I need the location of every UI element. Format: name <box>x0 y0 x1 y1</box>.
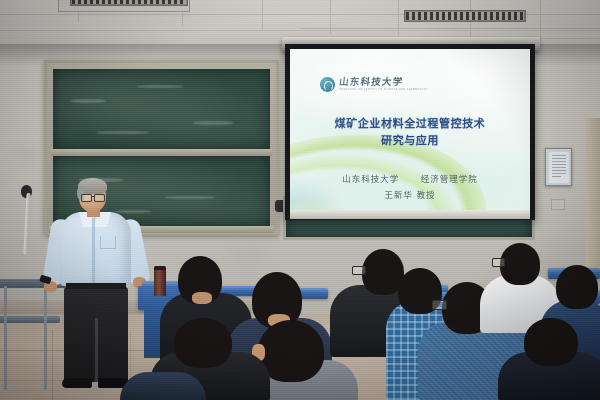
speaker-left-shoe <box>62 378 92 388</box>
speaker-glasses-right-lens <box>94 194 105 202</box>
speaker-shirt-placket <box>92 218 95 284</box>
ceiling-vent-right <box>404 10 526 22</box>
university-name-english: SHANDONG UNIVERSITY OF SCIENCE AND TECHN… <box>339 89 429 91</box>
side-table-leg-1 <box>44 286 47 390</box>
vacuum-flask <box>154 270 166 296</box>
audience-7-head <box>500 243 540 285</box>
slide-title: 煤矿企业材料全过程管控技术 研究与应用 <box>290 115 530 149</box>
university-logo: 山东科技大学 SHANDONG UNIVERSITY OF SCIENCE AN… <box>320 77 429 92</box>
blackboard <box>44 60 279 235</box>
blackboard-panel-upper <box>53 69 270 149</box>
wall-mark-1 <box>14 150 40 160</box>
university-logo-text: 山东科技大学 SHANDONG UNIVERSITY OF SCIENCE AN… <box>339 78 429 91</box>
slide-title-line-1: 煤矿企业材料全过程管控技术 <box>290 115 530 132</box>
door-frame-right <box>586 118 600 278</box>
side-table-shelf <box>0 316 60 323</box>
presentation-slide: 山东科技大学 SHANDONG UNIVERSITY OF SCIENCE AN… <box>290 49 530 210</box>
classroom-lecture-photo: 山东科技大学 SHANDONG UNIVERSITY OF SCIENCE AN… <box>0 0 600 400</box>
university-name-chinese: 山东科技大学 <box>338 78 429 88</box>
speaker-shirt-pocket <box>100 236 116 249</box>
audience-3-glasses <box>352 266 366 275</box>
speaker-glasses-bridge <box>91 196 95 197</box>
side-table-leg-2 <box>4 286 7 390</box>
projection-screen: 山东科技大学 SHANDONG UNIVERSITY OF SCIENCE AN… <box>285 44 535 220</box>
audience-1-neck <box>192 292 212 304</box>
speaker-belt <box>66 283 126 289</box>
ceiling-vent-left <box>70 0 188 6</box>
notice-text-block <box>549 152 569 183</box>
subtitle-institution: 山东科技大学 <box>342 175 399 185</box>
floor-seam-3 <box>52 330 53 400</box>
audience-6-glasses <box>432 300 447 310</box>
audience-8-head <box>556 265 598 309</box>
framed-notice <box>545 148 572 186</box>
slide-subtitle-line-2: 王新华 教授 <box>290 188 530 204</box>
audience-10-head <box>174 318 232 368</box>
slide-subtitle-line-1: 山东科技大学 经济管理学院 <box>290 172 530 188</box>
subtitle-department: 经济管理学院 <box>421 175 478 185</box>
slide-subtitle: 山东科技大学 经济管理学院 王新华 教授 <box>290 172 530 204</box>
slide-title-line-2: 研究与应用 <box>290 132 530 149</box>
projection-screen-surface: 山东科技大学 SHANDONG UNIVERSITY OF SCIENCE AN… <box>290 49 530 210</box>
university-emblem-icon <box>320 77 335 92</box>
audience-7-glasses <box>492 258 505 267</box>
blackboard-mid-rail <box>51 149 272 156</box>
projection-screen-bottom-bar <box>290 210 530 219</box>
audience-9-head <box>524 318 578 366</box>
speaker-trouser-crease <box>95 318 98 382</box>
wall-socket <box>551 199 565 210</box>
wall-mark-2 <box>232 248 266 260</box>
audience-11-torso <box>120 372 206 400</box>
